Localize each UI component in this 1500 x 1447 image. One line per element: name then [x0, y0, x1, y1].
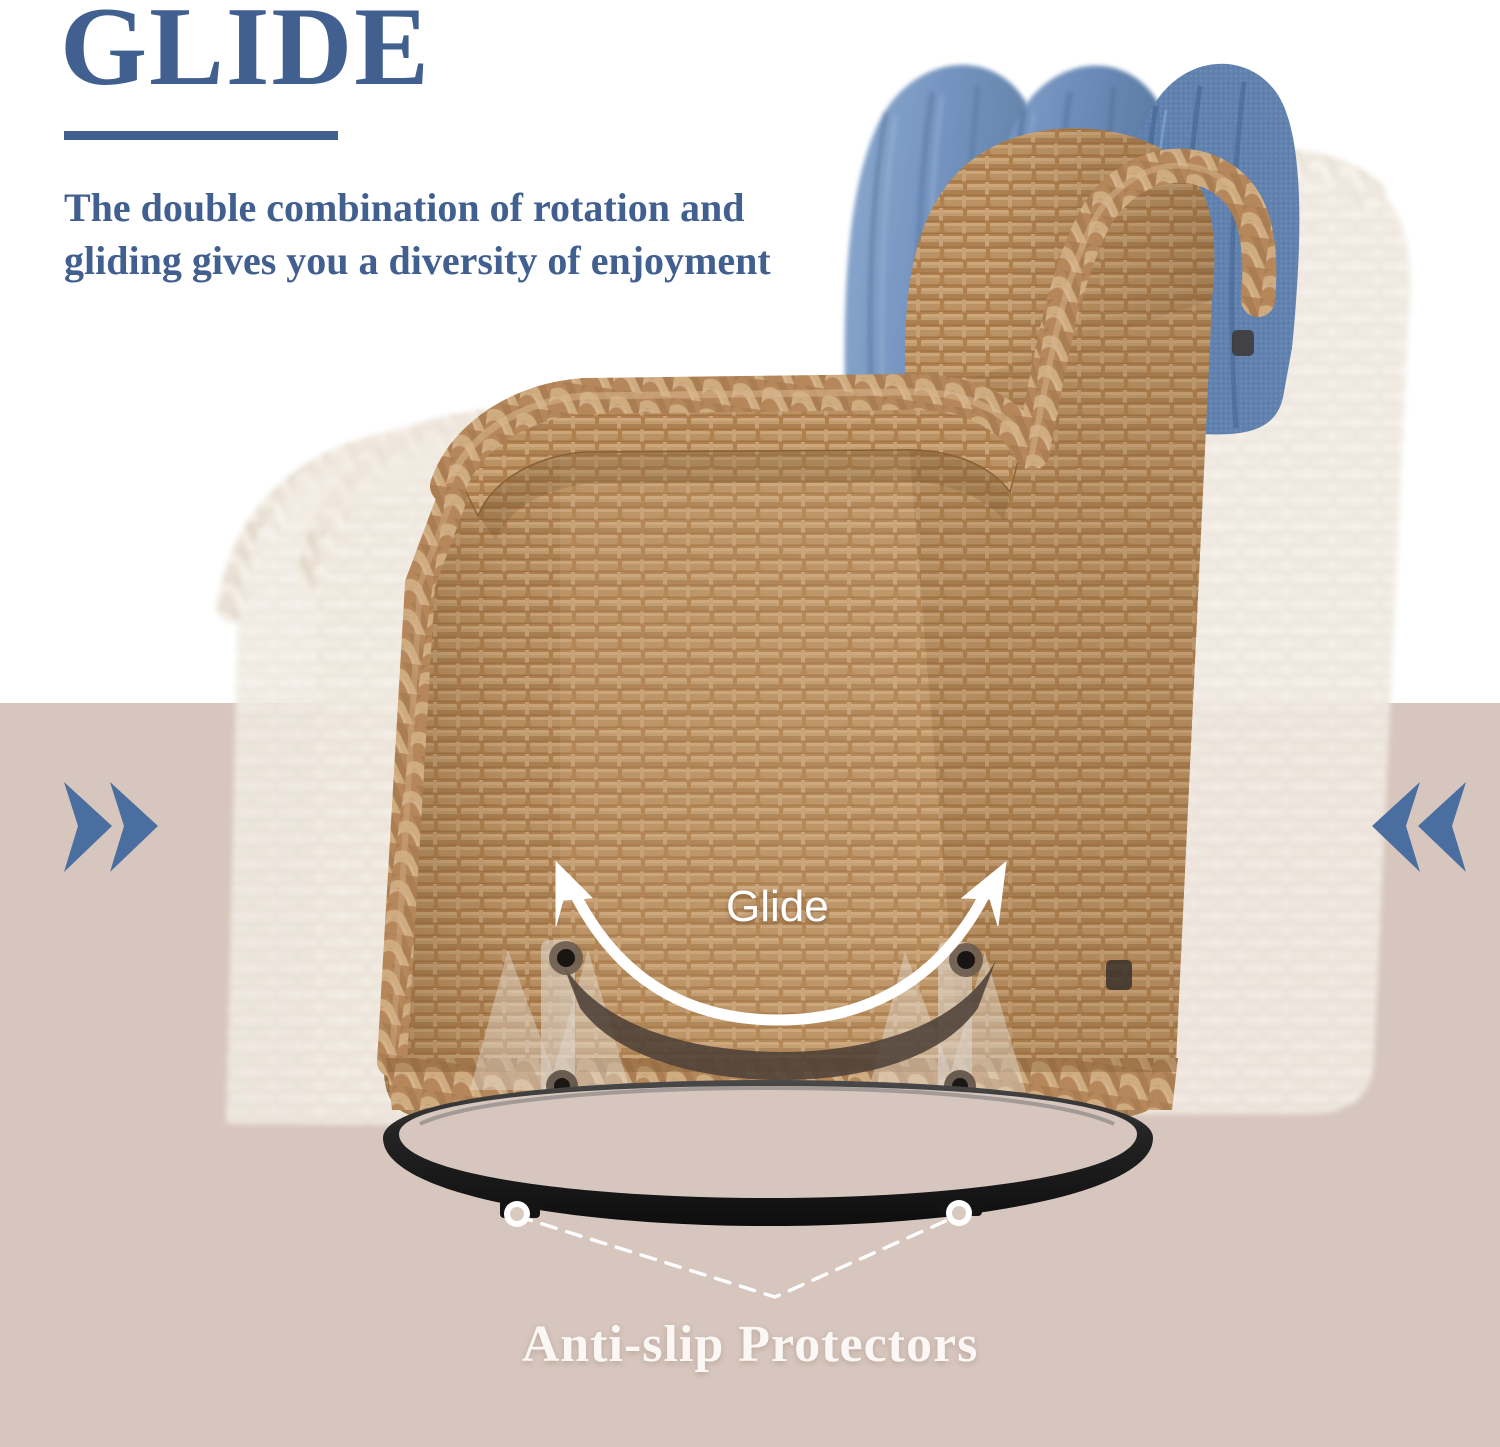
glide-arc-label: Glide	[726, 882, 829, 932]
double-chevron-right-icon	[58, 772, 178, 882]
page-subtitle: The double combination of rotation and g…	[64, 182, 924, 288]
anti-slip-caption: Anti-slip Protectors	[0, 1315, 1500, 1374]
subtitle-line-2: gliding gives you a diversity of enjoyme…	[64, 235, 924, 288]
page-title: GLIDE	[60, 0, 431, 109]
title-divider-rule	[64, 131, 338, 140]
product-feature-image: GLIDE The double combination of rotation…	[0, 0, 1500, 1447]
subtitle-line-1: The double combination of rotation and	[64, 182, 924, 235]
double-chevron-left-icon	[1352, 772, 1472, 882]
